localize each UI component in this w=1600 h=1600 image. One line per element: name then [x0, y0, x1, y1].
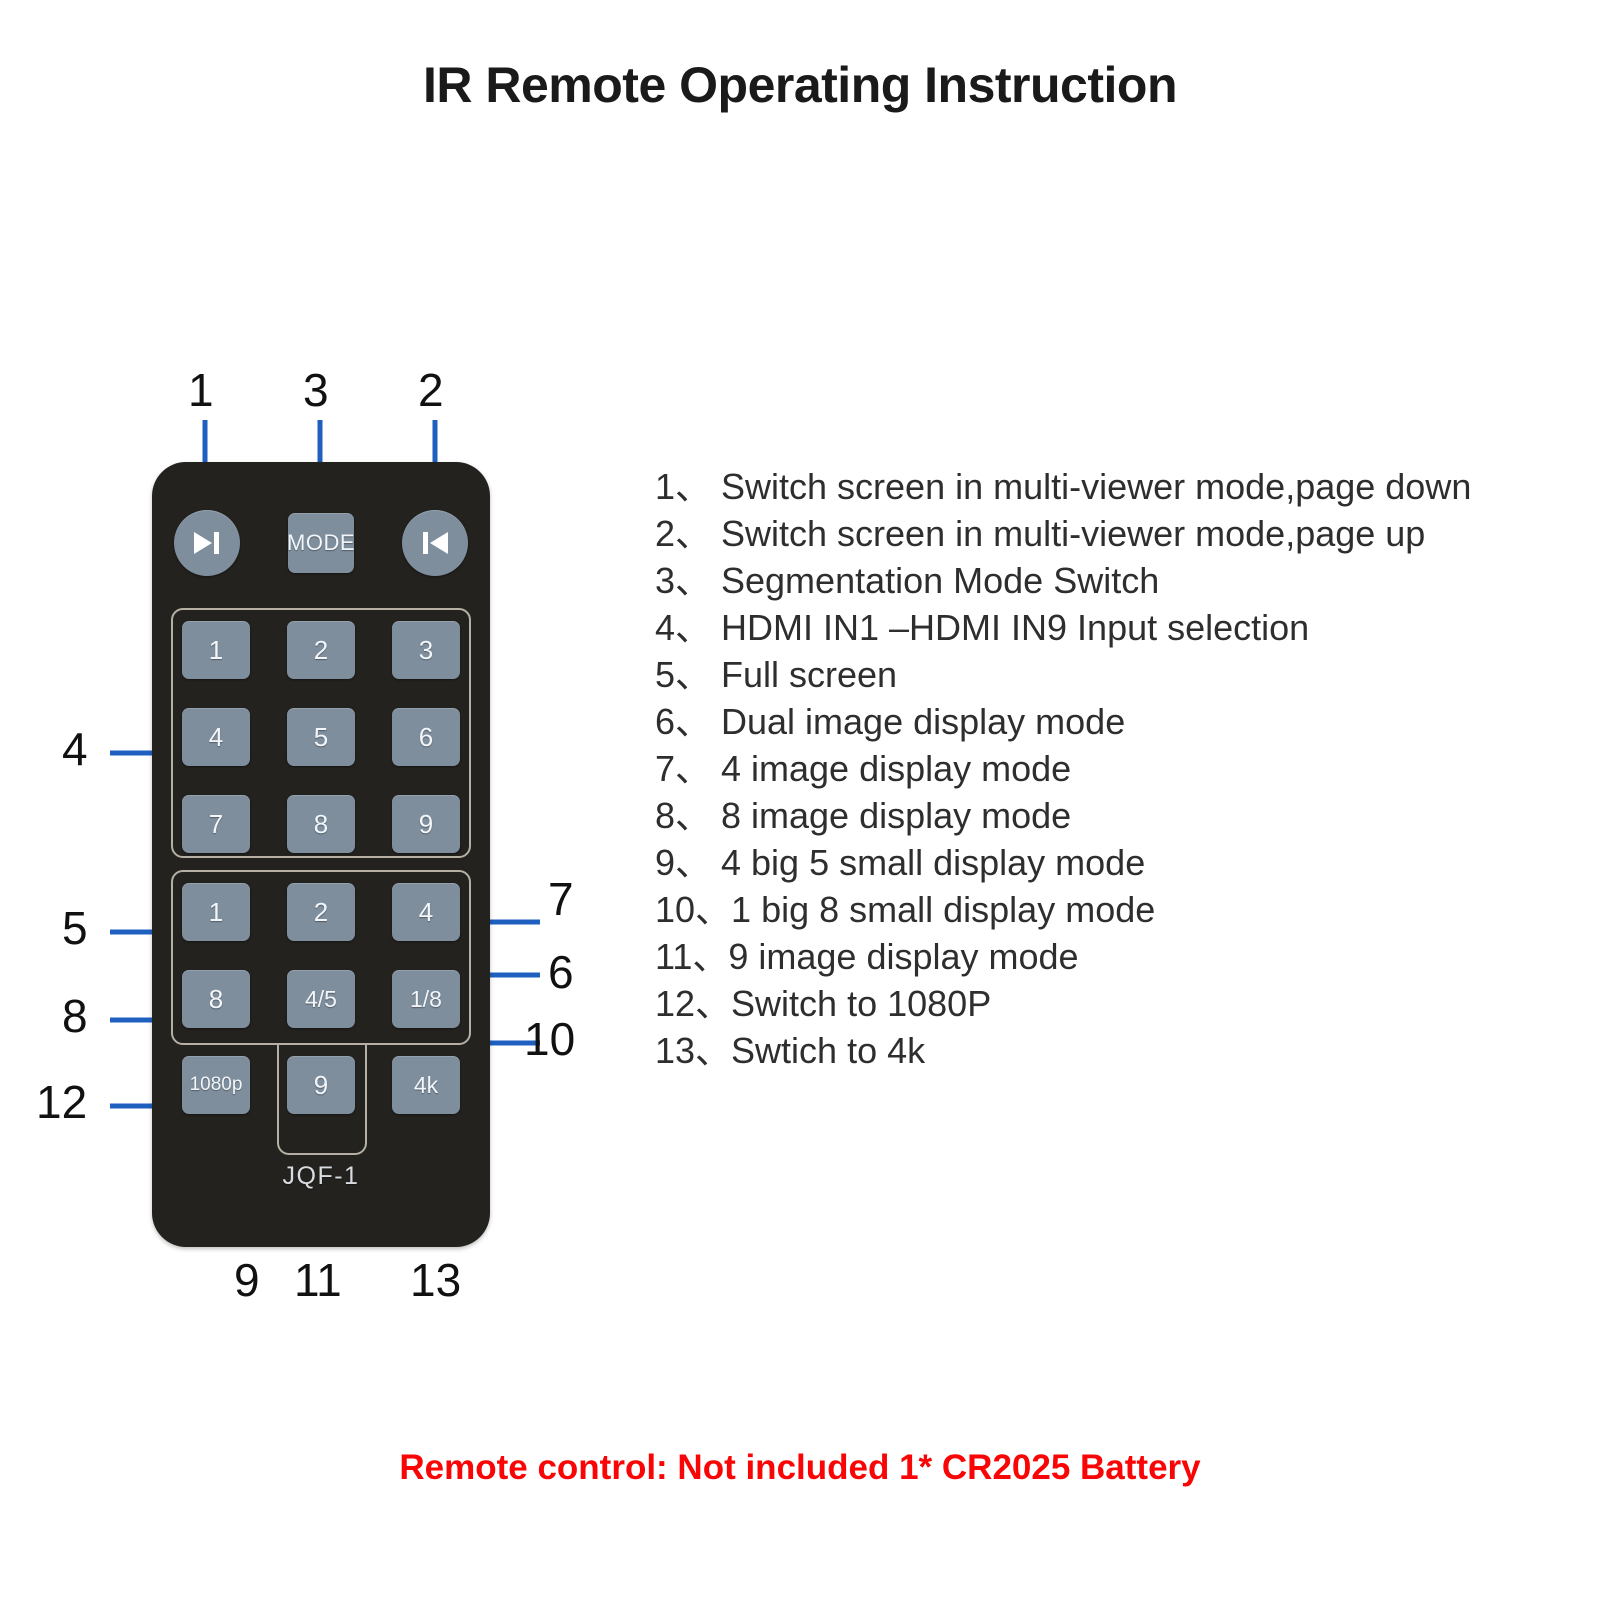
- callout-6: 6: [548, 949, 574, 995]
- callout-8: 8: [62, 993, 88, 1039]
- resolution-button-1080p[interactable]: 1080p: [182, 1056, 250, 1114]
- instruction-number: 6、: [655, 698, 721, 745]
- instruction-text: 9 image display mode: [728, 933, 1585, 980]
- instruction-number: 12、: [655, 980, 731, 1027]
- callout-10: 10: [524, 1016, 575, 1062]
- mode-button[interactable]: MODE: [288, 513, 354, 573]
- callout-5: 5: [62, 905, 88, 951]
- skip-backward-icon: [418, 530, 452, 556]
- instruction-item-7: 7、 4 image display mode: [655, 745, 1585, 792]
- instruction-text: Dual image display mode: [721, 698, 1585, 745]
- callout-2: 2: [418, 367, 444, 413]
- mode-button-2[interactable]: 2: [287, 883, 355, 941]
- instruction-item-13: 13、 Swtich to 4k: [655, 1027, 1585, 1074]
- instruction-item-4: 4、 HDMI IN1 –HDMI IN9 Input selection: [655, 604, 1585, 651]
- keypad-button-7[interactable]: 7: [182, 795, 250, 853]
- instruction-text: Switch screen in multi-viewer mode,page …: [721, 510, 1585, 557]
- instruction-item-9: 9、 4 big 5 small display mode: [655, 839, 1585, 886]
- instruction-number: 13、: [655, 1027, 731, 1074]
- keypad-button-2[interactable]: 2: [287, 621, 355, 679]
- instruction-item-6: 6、 Dual image display mode: [655, 698, 1585, 745]
- callout-13: 13: [410, 1257, 461, 1303]
- instruction-number: 5、: [655, 651, 721, 698]
- instruction-item-12: 12、 Switch to 1080P: [655, 980, 1585, 1027]
- mode-button-1[interactable]: 1: [182, 883, 250, 941]
- instruction-item-3: 3、 Segmentation Mode Switch: [655, 557, 1585, 604]
- instruction-number: 11、: [655, 933, 728, 980]
- skip-backward-button[interactable]: [402, 510, 468, 576]
- callout-4: 4: [62, 726, 88, 772]
- instruction-number: 3、: [655, 557, 721, 604]
- instruction-item-1: 1、 Switch screen in multi-viewer mode,pa…: [655, 463, 1585, 510]
- instruction-item-8: 8、 8 image display mode: [655, 792, 1585, 839]
- instruction-text: HDMI IN1 –HDMI IN9 Input selection: [721, 604, 1585, 651]
- skip-forward-icon: [190, 530, 224, 556]
- mode-button-4-5[interactable]: 4/5: [287, 970, 355, 1028]
- callout-1: 1: [188, 367, 214, 413]
- instruction-text: Switch screen in multi-viewer mode,page …: [721, 463, 1585, 510]
- keypad-button-4[interactable]: 4: [182, 708, 250, 766]
- keypad-button-1[interactable]: 1: [182, 621, 250, 679]
- keypad-button-9[interactable]: 9: [392, 795, 460, 853]
- mode-button-8[interactable]: 8: [182, 970, 250, 1028]
- instruction-text: 4 image display mode: [721, 745, 1585, 792]
- instruction-text: Swtich to 4k: [731, 1027, 1585, 1074]
- keypad-button-8[interactable]: 8: [287, 795, 355, 853]
- callout-12: 12: [36, 1079, 87, 1125]
- resolution-button-4k[interactable]: 4k: [392, 1056, 460, 1114]
- callout-3: 3: [303, 367, 329, 413]
- mode-button-9[interactable]: 9: [287, 1056, 355, 1114]
- instruction-number: 9、: [655, 839, 721, 886]
- mode-button-1-8[interactable]: 1/8: [392, 970, 460, 1028]
- keypad-button-6[interactable]: 6: [392, 708, 460, 766]
- instruction-text: 1 big 8 small display mode: [731, 886, 1585, 933]
- remote-model-label: JQF-1: [152, 1162, 490, 1191]
- mode-button-4[interactable]: 4: [392, 883, 460, 941]
- instruction-item-10: 10、 1 big 8 small display mode: [655, 886, 1585, 933]
- instruction-item-5: 5、 Full screen: [655, 651, 1585, 698]
- callout-7: 7: [548, 876, 574, 922]
- callout-11: 11: [294, 1257, 342, 1303]
- instruction-number: 1、: [655, 463, 721, 510]
- instruction-number: 2、: [655, 510, 721, 557]
- instruction-number: 4、: [655, 604, 721, 651]
- battery-notice: Remote control: Not included 1* CR2025 B…: [0, 1448, 1600, 1488]
- keypad-button-5[interactable]: 5: [287, 708, 355, 766]
- skip-forward-button[interactable]: [174, 510, 240, 576]
- instruction-number: 10、: [655, 886, 731, 933]
- callout-9: 9: [234, 1257, 260, 1303]
- page-title: IR Remote Operating Instruction: [0, 56, 1600, 114]
- instruction-text: Switch to 1080P: [731, 980, 1585, 1027]
- instruction-text: 4 big 5 small display mode: [721, 839, 1585, 886]
- instruction-text: Segmentation Mode Switch: [721, 557, 1585, 604]
- ir-remote-control: MODE 1 2 3 4 5 6 7 8 9 1 2 4 8 4/5 1/8 1…: [152, 462, 490, 1247]
- keypad-button-3[interactable]: 3: [392, 621, 460, 679]
- instruction-list: 1、 Switch screen in multi-viewer mode,pa…: [655, 463, 1585, 1074]
- instruction-number: 7、: [655, 745, 721, 792]
- instruction-item-11: 11、 9 image display mode: [655, 933, 1585, 980]
- instruction-item-2: 2、 Switch screen in multi-viewer mode,pa…: [655, 510, 1585, 557]
- instruction-text: Full screen: [721, 651, 1585, 698]
- instruction-text: 8 image display mode: [721, 792, 1585, 839]
- instruction-number: 8、: [655, 792, 721, 839]
